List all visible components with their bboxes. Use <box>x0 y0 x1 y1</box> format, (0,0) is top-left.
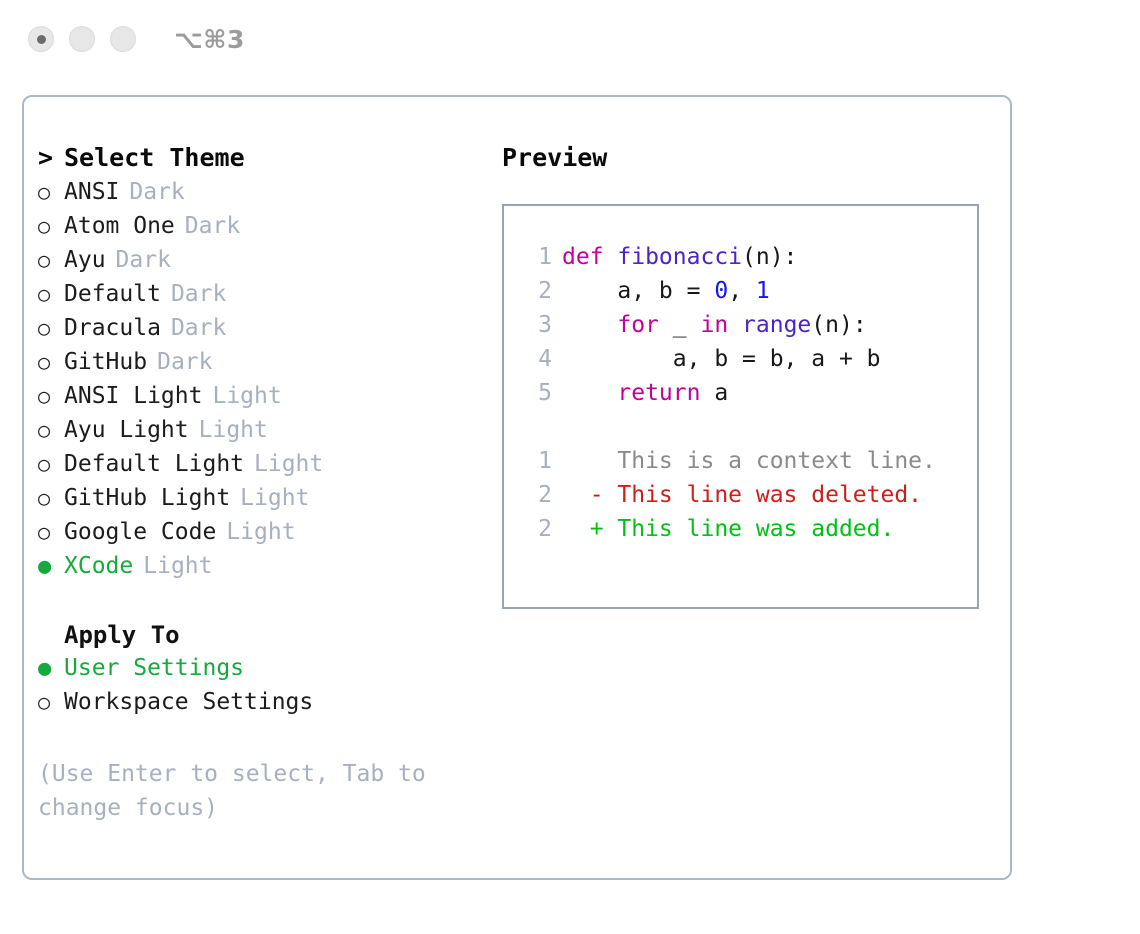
theme-list[interactable]: ○ANSIDark○Atom OneDark○AyuDark○DefaultDa… <box>38 179 478 587</box>
theme-kind-label: Dark <box>171 281 226 307</box>
theme-list-item[interactable]: ○ANSI LightLight <box>38 383 478 417</box>
code-token <box>562 312 617 338</box>
theme-name-label: Google Code <box>64 519 216 545</box>
code-token: (n): <box>742 244 797 270</box>
theme-list-item[interactable]: ○Atom OneDark <box>38 213 478 247</box>
theme-kind-label: Light <box>254 451 323 477</box>
diff-text: This is a context line. <box>604 448 936 474</box>
line-number: 1 <box>518 448 562 474</box>
traffic-light-second-icon[interactable] <box>69 26 95 52</box>
diff-line: 2 + This line was added. <box>518 516 977 550</box>
theme-list-item[interactable]: ●XCodeLight <box>38 553 478 587</box>
theme-name-label: Dracula <box>64 315 161 341</box>
radio-unselected-icon: ○ <box>38 386 64 406</box>
diff-line: 1 This is a context line. <box>518 448 977 482</box>
code-line: 2 a, b = 0, 1 <box>518 278 977 312</box>
theme-name-label: GitHub Light <box>64 485 230 511</box>
line-number: 2 <box>518 482 562 508</box>
theme-kind-label: Light <box>143 553 212 579</box>
theme-list-item[interactable]: ○Google CodeLight <box>38 519 478 553</box>
apply-to-list[interactable]: ●User Settings○Workspace Settings <box>38 655 478 723</box>
diff-marker: - <box>562 482 604 508</box>
keyboard-shortcut-label: ⌥⌘3 <box>174 25 245 54</box>
theme-kind-label: Dark <box>171 315 226 341</box>
code-token: a <box>700 380 728 406</box>
code-line: 5 return a <box>518 380 977 414</box>
code-line: 1def fibonacci(n): <box>518 244 977 278</box>
radio-selected-icon: ● <box>38 556 64 578</box>
preview-heading: Preview <box>502 143 992 179</box>
diff-sample: 1 This is a context line.2 - This line w… <box>518 448 977 550</box>
radio-unselected-icon: ○ <box>38 488 64 508</box>
theme-name-label: Default Light <box>64 451 244 477</box>
line-number: 1 <box>518 244 562 270</box>
radio-unselected-icon: ○ <box>38 216 64 236</box>
code-token <box>562 380 617 406</box>
code-token: a, b = <box>562 278 714 304</box>
traffic-light-third-icon[interactable] <box>110 26 136 52</box>
theme-name-label: GitHub <box>64 349 147 375</box>
code-token <box>728 312 742 338</box>
code-token: 1 <box>756 278 770 304</box>
theme-kind-label: Light <box>226 519 295 545</box>
theme-name-label: ANSI Light <box>64 383 202 409</box>
traffic-light-active-dot <box>37 35 46 44</box>
code-token: (n): <box>811 312 866 338</box>
code-token: in <box>700 312 728 338</box>
radio-unselected-icon: ○ <box>38 182 64 202</box>
theme-kind-label: Light <box>212 383 281 409</box>
line-number: 5 <box>518 380 562 406</box>
diff-text: This line was deleted. <box>604 482 923 508</box>
diff-marker: + <box>562 516 604 542</box>
preview-box: 1def fibonacci(n):2 a, b = 0, 13 for _ i… <box>502 204 979 609</box>
title-bar: ⌥⌘3 <box>0 0 1140 78</box>
code-line: 4 a, b = b, a + b <box>518 346 977 380</box>
theme-kind-label: Light <box>240 485 309 511</box>
code-spacer <box>518 414 977 448</box>
caret-icon: > <box>38 143 64 172</box>
terminal-window: ⌥⌘3 >Select Theme ○ANSIDark○Atom OneDark… <box>0 0 1140 934</box>
apply-to-label: User Settings <box>64 655 244 681</box>
main-panel: >Select Theme ○ANSIDark○Atom OneDark○Ayu… <box>22 95 1012 880</box>
radio-unselected-icon: ○ <box>38 420 64 440</box>
keyboard-hint: (Use Enter to select, Tab to change focu… <box>38 757 438 825</box>
theme-list-item[interactable]: ○AyuDark <box>38 247 478 281</box>
theme-kind-label: Dark <box>157 349 212 375</box>
radio-unselected-icon: ○ <box>38 352 64 372</box>
theme-list-item[interactable]: ○Ayu LightLight <box>38 417 478 451</box>
code-token: a, b = b, a + b <box>562 346 881 372</box>
theme-name-label: Default <box>64 281 161 307</box>
preview-column: Preview 1def fibonacci(n):2 a, b = 0, 13… <box>502 143 992 609</box>
theme-list-item[interactable]: ○Default LightLight <box>38 451 478 485</box>
theme-name-label: XCode <box>64 553 133 579</box>
code-token: 0 <box>714 278 728 304</box>
code-token: range <box>742 312 811 338</box>
code-token: def <box>562 244 617 270</box>
theme-name-label: Atom One <box>64 213 175 239</box>
code-line: 3 for _ in range(n): <box>518 312 977 346</box>
apply-to-label: Workspace Settings <box>64 689 313 715</box>
select-theme-heading: >Select Theme <box>38 143 478 179</box>
radio-unselected-icon: ○ <box>38 318 64 338</box>
apply-to-item[interactable]: ○Workspace Settings <box>38 689 478 723</box>
code-token: , <box>728 278 756 304</box>
diff-line: 2 - This line was deleted. <box>518 482 977 516</box>
apply-to-item[interactable]: ●User Settings <box>38 655 478 689</box>
select-theme-heading-label: Select Theme <box>64 143 245 172</box>
code-sample: 1def fibonacci(n):2 a, b = 0, 13 for _ i… <box>518 244 977 414</box>
theme-name-label: Ayu <box>64 247 106 273</box>
theme-kind-label: Dark <box>185 213 240 239</box>
theme-kind-label: Dark <box>129 179 184 205</box>
theme-kind-label: Dark <box>116 247 171 273</box>
code-token: for <box>617 312 659 338</box>
code-token: return <box>617 380 700 406</box>
line-number: 4 <box>518 346 562 372</box>
theme-kind-label: Light <box>199 417 268 443</box>
radio-unselected-icon: ○ <box>38 454 64 474</box>
theme-list-item[interactable]: ○DefaultDark <box>38 281 478 315</box>
radio-selected-icon: ● <box>38 658 64 680</box>
theme-picker-column: >Select Theme ○ANSIDark○Atom OneDark○Ayu… <box>38 143 478 825</box>
apply-to-heading: Apply To <box>38 621 478 655</box>
theme-list-item[interactable]: ○GitHub LightLight <box>38 485 478 519</box>
theme-list-item[interactable]: ○GitHubDark <box>38 349 478 383</box>
diff-text: This line was added. <box>604 516 895 542</box>
theme-list-item[interactable]: ○DraculaDark <box>38 315 478 349</box>
theme-list-item[interactable]: ○ANSIDark <box>38 179 478 213</box>
diff-marker <box>562 448 604 474</box>
line-number: 2 <box>518 278 562 304</box>
code-token: fibonacci <box>617 244 742 270</box>
traffic-light-active-icon[interactable] <box>28 26 54 52</box>
theme-name-label: Ayu Light <box>64 417 189 443</box>
radio-unselected-icon: ○ <box>38 284 64 304</box>
radio-unselected-icon: ○ <box>38 250 64 270</box>
radio-unselected-icon: ○ <box>38 692 64 712</box>
line-number: 2 <box>518 516 562 542</box>
line-number: 3 <box>518 312 562 338</box>
code-token: _ <box>659 312 701 338</box>
radio-unselected-icon: ○ <box>38 522 64 542</box>
theme-name-label: ANSI <box>64 179 119 205</box>
spacer <box>38 587 478 621</box>
